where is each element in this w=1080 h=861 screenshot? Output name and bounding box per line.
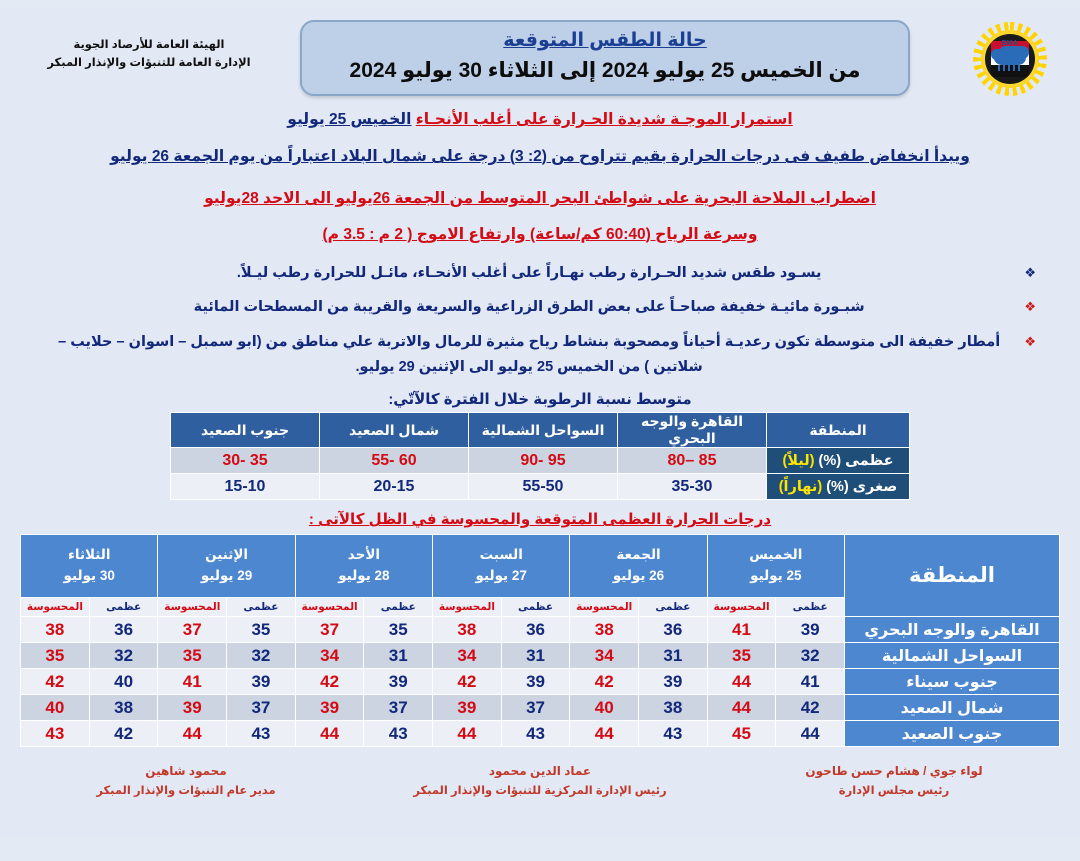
document-header: EMA حالة الطقس المتوقعة من الخميس 25 يول…	[0, 8, 1080, 100]
date-range: من الخميس 25 يوليو 2024 إلى الثلاثاء 30 …	[312, 56, 898, 85]
signature-name: عماد الدين محمود	[390, 761, 690, 781]
sub-header-max-4: عظمى	[227, 598, 296, 617]
temp-max-cell: 43	[639, 721, 708, 747]
humidity-max-northsaid: 60 -55	[320, 448, 469, 474]
day-date: 28 يوليو	[296, 566, 432, 587]
temp-max-cell: 39	[227, 669, 296, 695]
table-row: السواحل الشمالية323531343134313432353235	[21, 643, 1060, 669]
day-date: 26 يوليو	[570, 566, 706, 587]
day-header-thursday: الخميس 25 يوليو	[707, 535, 844, 598]
temp-max-cell: 37	[364, 695, 433, 721]
day-name: الإثنين	[158, 545, 294, 566]
temp-felt-cell: 41	[158, 669, 227, 695]
temp-max-cell: 42	[776, 695, 845, 721]
table-row: القاهرة والوجه البحري3941363836383537353…	[21, 617, 1060, 643]
organization-name: الهيئة العامة للأرصاد الجوية	[24, 36, 274, 54]
temp-max-cell: 36	[89, 617, 158, 643]
humidity-col-southsaid: جنوب الصعيد	[171, 413, 320, 448]
title-banner: حالة الطقس المتوقعة من الخميس 25 يوليو 2…	[300, 20, 910, 96]
signature-footer: لواء جوي / هشام حسن طاحون رئيس مجلس الإد…	[36, 761, 1044, 801]
day-name: الثلاثاء	[21, 545, 157, 566]
bullet-text-humid-heat: يسـود طقس شديد الحـرارة رطب نهـاراً على …	[44, 261, 1014, 286]
signature-role: رئيس الإدارة المركزية للتنبؤات والإنذار …	[390, 782, 690, 802]
temp-felt-cell: 44	[707, 669, 776, 695]
day-name: الخميس	[708, 545, 844, 566]
sub-header-felt-1: المحسوسة	[570, 598, 639, 617]
department-name: الإدارة العامة للتنبؤات والإنذار المبكر	[24, 54, 274, 72]
temperature-table-wrap: المنطقة الخميس 25 يوليو الجمعة 26 يوليو …	[0, 534, 1080, 747]
temperature-col-region: المنطقة	[845, 535, 1060, 617]
sub-header-felt-2: المحسوسة	[433, 598, 502, 617]
temp-max-cell: 37	[227, 695, 296, 721]
humidity-max-sublabel: (ليلاً)	[782, 453, 814, 469]
temp-felt-cell: 44	[158, 721, 227, 747]
day-date: 27 يوليو	[433, 566, 569, 587]
temperature-day-header-row: المنطقة الخميس 25 يوليو الجمعة 26 يوليو …	[21, 535, 1060, 598]
day-name: الأحد	[296, 545, 432, 566]
signature-general-manager: محمود شاهين مدير عام التنبؤات والإنذار ا…	[36, 761, 336, 801]
region-label: جنوب سيناء	[845, 669, 1060, 695]
humidity-max-cairo: 85 –80	[618, 448, 767, 474]
temp-felt-cell: 43	[21, 721, 90, 747]
sub-header-felt-3: المحسوسة	[295, 598, 364, 617]
humidity-col-northcoast: السواحل الشمالية	[469, 413, 618, 448]
temp-felt-cell: 34	[570, 643, 639, 669]
temp-felt-cell: 44	[295, 721, 364, 747]
humidity-heading: متوسط نسبة الرطوبة خلال الفترة كالآتّي:	[0, 390, 1080, 408]
notice-wind-waves-text: وسرعة الرياح (60:40 كم/ساعة) وارتفاع الا…	[323, 226, 758, 243]
humidity-max-label: عظمى (%)	[819, 453, 894, 469]
table-row: جنوب الصعيد444543444344434443444243	[21, 721, 1060, 747]
bullet-text-rain: أمطار خفيفة الى متوسطة تكون رعديـة أحيان…	[44, 330, 1014, 381]
temp-max-cell: 35	[227, 617, 296, 643]
temperature-table-body: القاهرة والوجه البحري3941363836383537353…	[21, 617, 1060, 747]
day-date: 25 يوليو	[708, 566, 844, 587]
temp-felt-cell: 38	[433, 617, 502, 643]
humidity-col-region: المنطقة	[767, 413, 910, 448]
diamond-bullet-icon: ❖	[1024, 330, 1036, 352]
notice-marine: اضطراب الملاحة البحرية على شواطئ البحر ا…	[0, 187, 1080, 211]
humidity-min-label: صغرى (%)	[826, 479, 897, 495]
humidity-row-label-min: صغرى (%) (نهاراً)	[767, 474, 910, 500]
temp-max-cell: 31	[639, 643, 708, 669]
day-name: السبت	[433, 545, 569, 566]
region-label: جنوب الصعيد	[845, 721, 1060, 747]
sub-header-max-2: عظمى	[501, 598, 570, 617]
temp-max-cell: 36	[501, 617, 570, 643]
sub-header-felt-0: المحسوسة	[707, 598, 776, 617]
diamond-bullet-icon: ❖	[1024, 295, 1036, 317]
temp-felt-cell: 39	[158, 695, 227, 721]
rain-icon	[998, 65, 1022, 71]
temp-felt-cell: 42	[433, 669, 502, 695]
temp-felt-cell: 39	[433, 695, 502, 721]
humidity-table: المنطقة القاهرة والوجه البحري السواحل ال…	[170, 412, 910, 500]
notice-cooling-text: ويبدأ انخفاض طفيف فى درجات الحرارة بقيم …	[110, 148, 970, 165]
sub-header-max-5: عظمى	[89, 598, 158, 617]
humidity-min-cairo: 35-30	[618, 474, 767, 500]
temp-max-cell: 39	[501, 669, 570, 695]
bullet-text-mist: شبـورة مائيـة خفيفة صباحـاً على بعض الطر…	[44, 295, 1014, 320]
humidity-max-northcoast: 95 -90	[469, 448, 618, 474]
temp-felt-cell: 42	[295, 669, 364, 695]
humidity-header-row: المنطقة القاهرة والوجه البحري السواحل ال…	[171, 413, 910, 448]
sub-header-max-1: عظمى	[639, 598, 708, 617]
humidity-min-northsaid: 20-15	[320, 474, 469, 500]
temp-max-cell: 31	[501, 643, 570, 669]
notice-marine-text: اضطراب الملاحة البحرية على شواطئ البحر ا…	[204, 190, 876, 207]
diamond-bullet-icon: ❖	[1024, 261, 1036, 283]
humidity-min-northcoast: 55-50	[469, 474, 618, 500]
temp-max-cell: 37	[501, 695, 570, 721]
temp-max-cell: 31	[364, 643, 433, 669]
temp-max-cell: 36	[639, 617, 708, 643]
list-item: ❖ شبـورة مائيـة خفيفة صباحـاً على بعض ال…	[44, 295, 1036, 320]
temp-max-cell: 39	[776, 617, 845, 643]
day-header-sunday: الأحد 28 يوليو	[295, 535, 432, 598]
humidity-min-southsaid: 15-10	[171, 474, 320, 500]
humidity-col-cairo: القاهرة والوجه البحري	[618, 413, 767, 448]
emblem-icon: EMA	[985, 34, 1035, 84]
temp-max-cell: 38	[639, 695, 708, 721]
notices-section: استمرار الموجـة شديدة الحـرارة على أغلب …	[0, 100, 1080, 247]
temperature-heading: درجات الحرارة العظمى المتوقعة والمحسوسة …	[0, 510, 1080, 528]
temperature-table: المنطقة الخميس 25 يوليو الجمعة 26 يوليو …	[20, 534, 1060, 747]
day-header-friday: الجمعة 26 يوليو	[570, 535, 707, 598]
table-row: عظمى (%) (ليلاً) 85 –80 95 -90 60 -55 35…	[171, 448, 910, 474]
day-header-tuesday: الثلاثاء 30 يوليو	[21, 535, 158, 598]
document-page: EMA حالة الطقس المتوقعة من الخميس 25 يول…	[0, 0, 1080, 861]
temp-felt-cell: 45	[707, 721, 776, 747]
region-label: السواحل الشمالية	[845, 643, 1060, 669]
humidity-row-label-max: عظمى (%) (ليلاً)	[767, 448, 910, 474]
organization-block: الهيئة العامة للأرصاد الجوية الإدارة الع…	[24, 36, 274, 73]
temp-max-cell: 43	[501, 721, 570, 747]
humidity-max-southsaid: 35 -30	[171, 448, 320, 474]
humidity-min-sublabel: (نهاراً)	[779, 479, 822, 495]
sub-header-max-0: عظمى	[776, 598, 845, 617]
document-sheet: EMA حالة الطقس المتوقعة من الخميس 25 يول…	[0, 8, 1080, 836]
notice-heatwave-date: الخميس 25 يوليو	[287, 111, 411, 128]
signature-role: رئيس مجلس الإدارة	[744, 782, 1044, 802]
temp-felt-cell: 40	[570, 695, 639, 721]
signature-chairman: لواء جوي / هشام حسن طاحون رئيس مجلس الإد…	[744, 761, 1044, 801]
temp-felt-cell: 34	[295, 643, 364, 669]
table-row: جنوب سيناء414439423942394239414042	[21, 669, 1060, 695]
temp-felt-cell: 38	[21, 617, 90, 643]
region-label: القاهرة والوجه البحري	[845, 617, 1060, 643]
temp-felt-cell: 41	[707, 617, 776, 643]
signature-name: لواء جوي / هشام حسن طاحون	[744, 761, 1044, 781]
temp-max-cell: 38	[89, 695, 158, 721]
temp-felt-cell: 37	[295, 617, 364, 643]
notice-cooling: ويبدأ انخفاض طفيف فى درجات الحرارة بقيم …	[0, 145, 1080, 169]
temp-max-cell: 35	[364, 617, 433, 643]
temp-max-cell: 43	[364, 721, 433, 747]
humidity-col-northsaid: شمال الصعيد	[320, 413, 469, 448]
temp-max-cell: 43	[227, 721, 296, 747]
temp-felt-cell: 44	[707, 695, 776, 721]
list-item: ❖ أمطار خفيفة الى متوسطة تكون رعديـة أحي…	[44, 330, 1036, 381]
temp-felt-cell: 35	[158, 643, 227, 669]
temp-max-cell: 40	[89, 669, 158, 695]
humidity-table-wrap: المنطقة القاهرة والوجه البحري السواحل ال…	[0, 412, 1080, 500]
sub-header-max-3: عظمى	[364, 598, 433, 617]
temp-max-cell: 39	[639, 669, 708, 695]
temp-max-cell: 39	[364, 669, 433, 695]
day-header-monday: الإثنين 29 يوليو	[158, 535, 295, 598]
bullet-list: ❖ يسـود طقس شديد الحـرارة رطب نهـاراً عل…	[44, 261, 1036, 381]
temp-felt-cell: 38	[570, 617, 639, 643]
day-date: 29 يوليو	[158, 566, 294, 587]
temp-max-cell: 41	[776, 669, 845, 695]
signature-role: مدير عام التنبؤات والإنذار المبكر	[36, 782, 336, 802]
notice-heatwave-red: استمرار الموجـة شديدة الحـرارة على أغلب …	[416, 111, 793, 128]
cloud-icon	[994, 50, 1026, 65]
temp-max-cell: 44	[776, 721, 845, 747]
temp-felt-cell: 42	[21, 669, 90, 695]
day-date: 30 يوليو	[21, 566, 157, 587]
day-name: الجمعة	[570, 545, 706, 566]
region-label: شمال الصعيد	[845, 695, 1060, 721]
table-row: شمال الصعيد424438403739373937393840	[21, 695, 1060, 721]
sub-header-felt-5: المحسوسة	[21, 598, 90, 617]
temp-max-cell: 42	[89, 721, 158, 747]
temp-felt-cell: 37	[158, 617, 227, 643]
sub-header-felt-4: المحسوسة	[158, 598, 227, 617]
table-row: صغرى (%) (نهاراً) 35-30 55-50 20-15 15-1…	[171, 474, 910, 500]
temp-felt-cell: 44	[433, 721, 502, 747]
temp-felt-cell: 34	[433, 643, 502, 669]
temp-felt-cell: 44	[570, 721, 639, 747]
temp-felt-cell: 35	[707, 643, 776, 669]
ema-monogram: EMA	[985, 40, 1035, 47]
temp-max-cell: 32	[227, 643, 296, 669]
temp-max-cell: 32	[776, 643, 845, 669]
temp-max-cell: 32	[89, 643, 158, 669]
list-item: ❖ يسـود طقس شديد الحـرارة رطب نهـاراً عل…	[44, 261, 1036, 286]
notice-heatwave: استمرار الموجـة شديدة الحـرارة على أغلب …	[0, 108, 1080, 131]
signature-central-head: عماد الدين محمود رئيس الإدارة المركزية ل…	[390, 761, 690, 801]
page-title: حالة الطقس المتوقعة	[312, 28, 898, 54]
signature-name: محمود شاهين	[36, 761, 336, 781]
temp-felt-cell: 35	[21, 643, 90, 669]
ema-logo-icon: EMA	[964, 22, 1056, 96]
day-header-saturday: السبت 27 يوليو	[433, 535, 570, 598]
temp-felt-cell: 40	[21, 695, 90, 721]
temp-felt-cell: 39	[295, 695, 364, 721]
temp-felt-cell: 42	[570, 669, 639, 695]
notice-wind-waves: وسرعة الرياح (60:40 كم/ساعة) وارتفاع الا…	[0, 223, 1080, 247]
